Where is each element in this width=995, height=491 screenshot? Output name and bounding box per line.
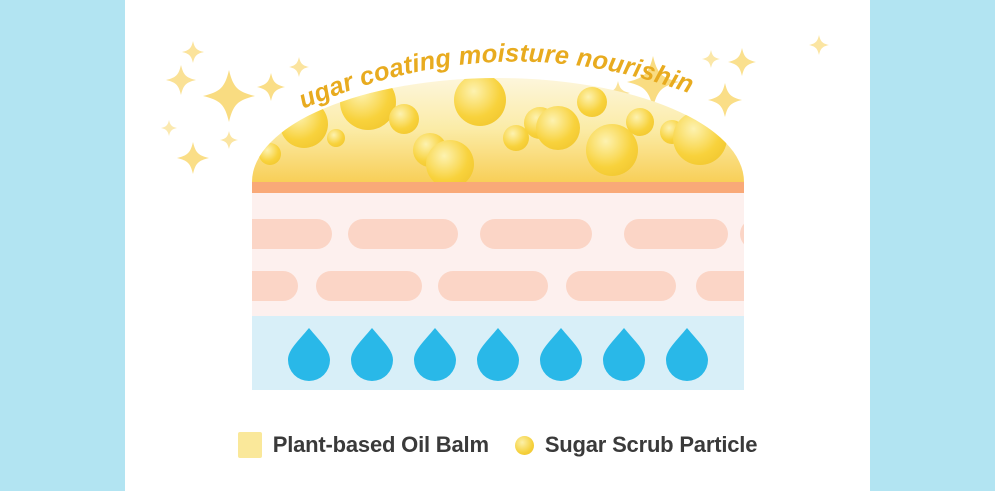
content-panel: Sugar coating moisture nourishing Plant-… [125, 0, 870, 491]
legend-label-sugar-particle: Sugar Scrub Particle [545, 432, 757, 458]
dermis-cell [252, 219, 332, 249]
dermis-cell [252, 271, 298, 301]
legend-item-oil-balm: Plant-based Oil Balm [238, 432, 489, 458]
dermis-cell-row [252, 271, 744, 301]
dermis-cell [624, 219, 728, 249]
sugar-particle [626, 108, 654, 136]
circle-swatch-icon [515, 436, 534, 455]
water-droplet [414, 328, 456, 381]
water-droplet [603, 328, 645, 381]
skin-cross-section-diagram [252, 78, 744, 390]
dermis-cell [316, 271, 422, 301]
dermis-cell-row [252, 219, 744, 249]
sugar-particle [673, 111, 727, 165]
water-droplet [540, 328, 582, 381]
dermis-cell [566, 271, 676, 301]
sugar-particle [454, 78, 506, 126]
dermis-cell [348, 219, 458, 249]
sugar-particle [577, 87, 607, 117]
square-swatch-icon [238, 432, 262, 458]
legend-label-oil-balm: Plant-based Oil Balm [273, 432, 489, 458]
sugar-particle [340, 78, 396, 130]
legend-item-sugar-particle: Sugar Scrub Particle [515, 432, 757, 458]
epidermis-band [252, 182, 744, 193]
sugar-particle [280, 100, 328, 148]
water-droplet [351, 328, 393, 381]
dermis-cell [438, 271, 548, 301]
dermis-cell-layer [252, 193, 744, 316]
dermis-cell [480, 219, 592, 249]
water-droplet [288, 328, 330, 381]
sugar-particle-group [252, 78, 744, 182]
water-droplet [666, 328, 708, 381]
sugar-particle [426, 140, 474, 182]
water-droplet [477, 328, 519, 381]
legend: Plant-based Oil Balm Sugar Scrub Particl… [125, 420, 870, 470]
hydration-layer [252, 316, 744, 390]
illustration-canvas: Sugar coating moisture nourishing Plant-… [0, 0, 995, 491]
sugar-particle [259, 143, 281, 165]
sugar-particle [536, 106, 580, 150]
left-blue-band [0, 0, 125, 491]
sugar-particle [327, 129, 345, 147]
sugar-particle [712, 98, 732, 118]
water-droplet-group [252, 316, 744, 390]
dermis-cell [696, 271, 744, 301]
dermis-cell [740, 219, 744, 249]
right-blue-band [870, 0, 995, 491]
plant-oil-balm-dome [252, 78, 744, 182]
sugar-particle [389, 104, 419, 134]
